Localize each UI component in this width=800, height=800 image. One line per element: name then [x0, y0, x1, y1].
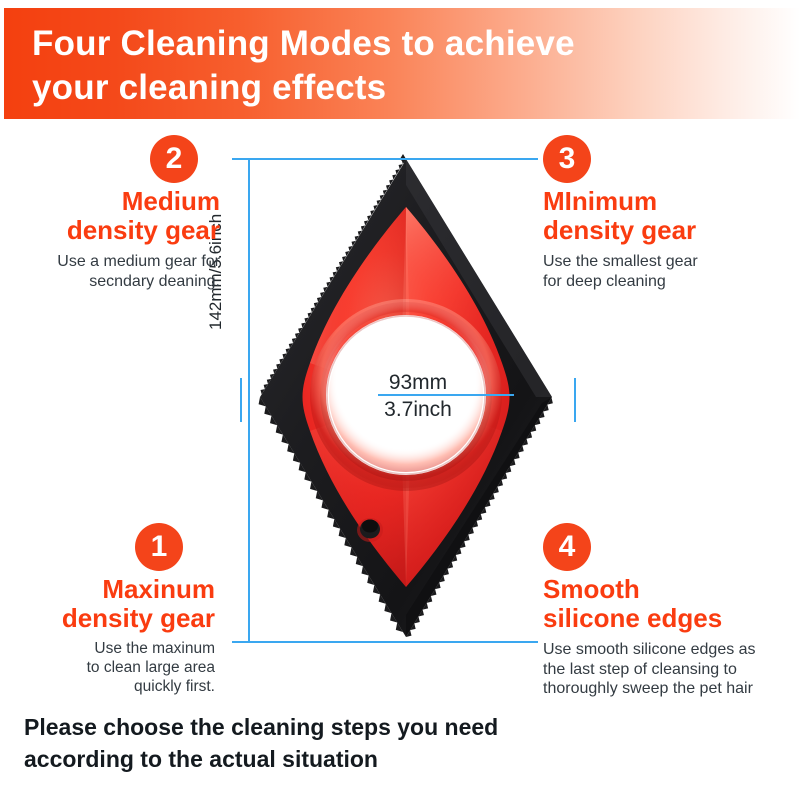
header-banner: Four Cleaning Modes to achieve your clea… [4, 8, 800, 119]
guide-line-top [232, 158, 538, 160]
guide-line-bottom [232, 641, 538, 643]
callout-badge-2: 2 [150, 135, 198, 183]
footer-caption: Please choose the cleaning steps you nee… [24, 712, 544, 775]
callout-desc-4: Use smooth silicone edges as the last st… [543, 640, 798, 699]
page-title: Four Cleaning Modes to achieve your clea… [32, 22, 732, 110]
callout-title-1: Maxinum density gear [0, 575, 215, 633]
dimension-hole-inch: 3.7inch [348, 398, 488, 422]
callout-smooth-silicone-edges: 4 Smooth silicone edges Use smooth silic… [543, 523, 798, 699]
callout-badge-1: 1 [135, 523, 183, 571]
callout-medium-density-gear: 2 Medium density gear Use a medium gear … [0, 135, 220, 291]
guide-line-left [248, 158, 250, 643]
callout-desc-1: Use the maxinum to clean large area quic… [0, 640, 215, 697]
callout-desc-3: Use the smallest gear for deep cleaning [543, 252, 793, 291]
guide-tick-left [240, 378, 242, 422]
callout-desc-2: Use a medium gear for secndary deaning. [0, 252, 220, 291]
dimension-hole-mm: 93mm [348, 371, 488, 395]
callout-maximum-density-gear: 1 Maxinum density gear Use the maxinum t… [0, 523, 215, 697]
hang-hole [357, 518, 383, 542]
guide-tick-right [574, 378, 576, 422]
callout-minimum-density-gear: 3 MInimum density gear Use the smallest … [543, 135, 793, 291]
callout-badge-4: 4 [543, 523, 591, 571]
callout-title-4: Smooth silicone edges [543, 575, 798, 633]
callout-title-2: Medium density gear [0, 187, 220, 245]
callout-title-3: MInimum density gear [543, 187, 793, 245]
callout-badge-3: 3 [543, 135, 591, 183]
